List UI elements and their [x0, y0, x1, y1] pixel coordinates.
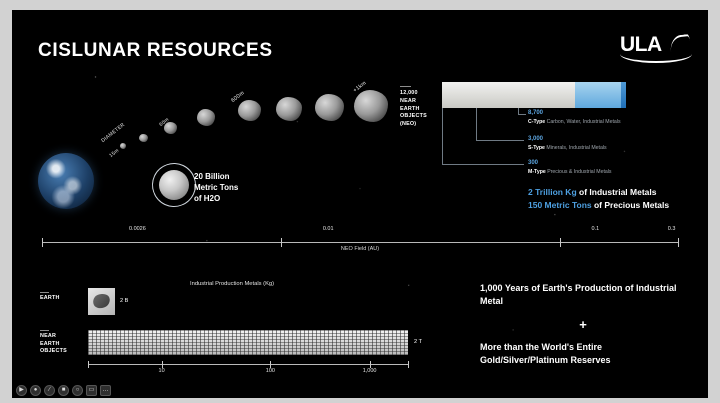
video-player-window: CISLUNAR RESOURCES ULA DIAMETER 15m 60m …	[0, 0, 720, 403]
compare-axis-tick-100	[270, 361, 271, 368]
compare-earth-rule	[40, 292, 49, 293]
neo-count-c-type: 8,700	[528, 110, 621, 118]
earth-globe	[38, 153, 94, 209]
compare-label-earth: EARTH	[40, 292, 60, 303]
asteroid-mid-b	[276, 97, 302, 121]
note-tool-button[interactable]: ▭	[86, 385, 97, 396]
asteroid-small-b	[139, 134, 148, 142]
neo-composition-panel: 12,000 NEAR EARTH OBJECTS (NEO) 8,700 C-…	[400, 82, 668, 168]
neo-desc-c: Carbon, Water, Industrial Metals	[547, 119, 621, 125]
compare-axis-tick-10	[162, 361, 163, 368]
compare-axis-line	[88, 364, 408, 365]
h2o-callout-line3: of H2O	[194, 194, 238, 205]
neo-axis-tick-2	[560, 238, 561, 247]
neo-total-abbr: (NEO)	[400, 121, 434, 129]
earth-production-value: 2 B	[120, 298, 128, 304]
leader-line-horiz-m	[442, 164, 524, 165]
totals-precious-value: 150 Metric Tons	[528, 200, 592, 210]
compare-axis-label-100: 100	[266, 368, 275, 374]
compare-neo-text-2: EARTH	[40, 341, 67, 349]
compare-axis-tick-start	[88, 361, 89, 368]
neo-total-word2: EARTH	[400, 106, 434, 114]
compare-neo-text-1: NEAR	[40, 333, 67, 341]
totals-row-precious: 150 Metric Tons of Precious Metals	[528, 199, 669, 212]
h2o-callout-line2: Metric Tons	[194, 183, 238, 194]
neo-type-c: C-Type	[528, 119, 545, 125]
ula-logo: ULA	[620, 34, 692, 64]
neo-production-bar	[88, 330, 408, 355]
totals-industrial-label: of Industrial Metals	[577, 187, 657, 197]
asteroid-15m	[120, 143, 126, 149]
asteroid-mid-c	[315, 94, 344, 121]
conclusion-text: 1,000 Years of Earth's Production of Ind…	[480, 282, 686, 367]
neo-type-m: M-Type	[528, 169, 546, 175]
neo-axis-tick-0	[42, 238, 43, 247]
neo-axis-tick-1	[281, 238, 282, 247]
asteroid-mid-a	[197, 109, 215, 126]
neo-axis-label-2: 0.1	[591, 226, 599, 232]
leader-line-horiz-s	[476, 140, 524, 141]
neo-row-m-type: 300 M-Type Precious & Industrial Metals	[528, 160, 612, 175]
moon-globe	[159, 170, 189, 200]
neo-production-value: 2 T	[414, 339, 422, 345]
neo-desc-m: Precious & Industrial Metals	[547, 169, 611, 175]
slide-stage[interactable]: CISLUNAR RESOURCES ULA DIAMETER 15m 60m …	[12, 10, 708, 382]
compare-earth-text: EARTH	[40, 295, 60, 303]
industrial-production-chart: Industrial Production Metals (Kg) EARTH …	[40, 278, 430, 374]
h2o-callout: 20 Billion Metric Tons of H2O	[194, 172, 238, 204]
compare-neo-rule	[40, 330, 49, 331]
neo-axis-name: NEO Field (AU)	[341, 246, 379, 252]
compare-axis-tick-end	[408, 361, 409, 368]
conclusion-line-1: 1,000 Years of Earth's Production of Ind…	[480, 282, 686, 308]
compare-axis-label-10: 10	[159, 368, 165, 374]
neo-total-label: 12,000 NEAR EARTH OBJECTS (NEO)	[400, 86, 434, 129]
neo-axis-label-1: 0.01	[323, 226, 334, 232]
neo-axis-line	[42, 242, 678, 243]
neo-composition-bar	[442, 82, 626, 108]
compare-label-neo: NEAR EARTH OBJECTS	[40, 330, 67, 356]
ula-swoosh-bottom-icon	[620, 54, 692, 63]
leader-line-vert-c	[442, 108, 443, 164]
leader-line-horiz-c	[518, 114, 526, 115]
asteroid-1km	[354, 90, 388, 122]
pen-tool-button[interactable]: ∕	[44, 385, 55, 396]
ore-rock-icon	[91, 292, 111, 311]
asteroid-60m	[164, 122, 177, 134]
compare-axis-label-1000: 1,000	[363, 368, 377, 374]
asteroid-600m	[238, 100, 261, 121]
neo-axis-tick-3	[678, 238, 679, 247]
totals-row-industrial: 2 Trillion Kg of Industrial Metals	[528, 186, 669, 199]
play-pause-button[interactable]: ▶	[16, 385, 27, 396]
compare-axis: 10 100 1,000	[88, 362, 408, 376]
stamp-tool-button[interactable]: ■	[58, 385, 69, 396]
more-tools-button[interactable]: …	[100, 385, 111, 396]
neo-total-word1: NEAR	[400, 98, 434, 106]
record-button[interactable]: ●	[30, 385, 41, 396]
neo-segment-m-type	[621, 82, 626, 108]
compare-chart-title: Industrial Production Metals (Kg)	[190, 281, 274, 287]
neo-axis-label-3: 0.3	[668, 226, 676, 232]
neo-row-s-type: 3,000 S-Type Minerals, Industrial Metals	[528, 136, 607, 151]
neo-axis-label-0: 0.0026	[129, 226, 146, 232]
player-toolbar[interactable]: ▶ ● ∕ ■ ○ ▭ …	[12, 382, 708, 398]
neo-type-s: S-Type	[528, 145, 545, 151]
neo-count-s-type: 3,000	[528, 136, 607, 144]
neo-segment-s-type	[575, 82, 621, 108]
h2o-callout-line1: 20 Billion	[194, 172, 238, 183]
earth-production-bar	[88, 288, 115, 315]
compare-axis-tick-1000	[370, 361, 371, 368]
conclusion-plus-sign: +	[480, 317, 686, 332]
zoom-tool-button[interactable]: ○	[72, 385, 83, 396]
neo-row-c-type: 8,700 C-Type Carbon, Water, Industrial M…	[528, 110, 621, 125]
page-title: CISLUNAR RESOURCES	[38, 40, 273, 62]
totals-precious-label: of Precious Metals	[592, 200, 669, 210]
neo-segment-c-type	[442, 82, 575, 108]
conclusion-line-2: More than the World's Entire Gold/Silver…	[480, 341, 686, 367]
resource-totals: 2 Trillion Kg of Industrial Metals 150 M…	[528, 186, 669, 212]
neo-total-word3: OBJECTS	[400, 113, 434, 121]
compare-neo-text-3: OBJECTS	[40, 348, 67, 356]
neo-field-axis: 0.0026 0.01 0.1 0.3 NEO Field (AU)	[42, 234, 678, 258]
neo-total-rule	[400, 86, 411, 87]
leader-line-vert-s	[476, 108, 477, 140]
neo-total-count: 12,000	[400, 90, 434, 98]
neo-desc-s: Minerals, Industrial Metals	[546, 145, 606, 151]
totals-industrial-value: 2 Trillion Kg	[528, 187, 577, 197]
neo-count-m-type: 300	[528, 160, 612, 168]
